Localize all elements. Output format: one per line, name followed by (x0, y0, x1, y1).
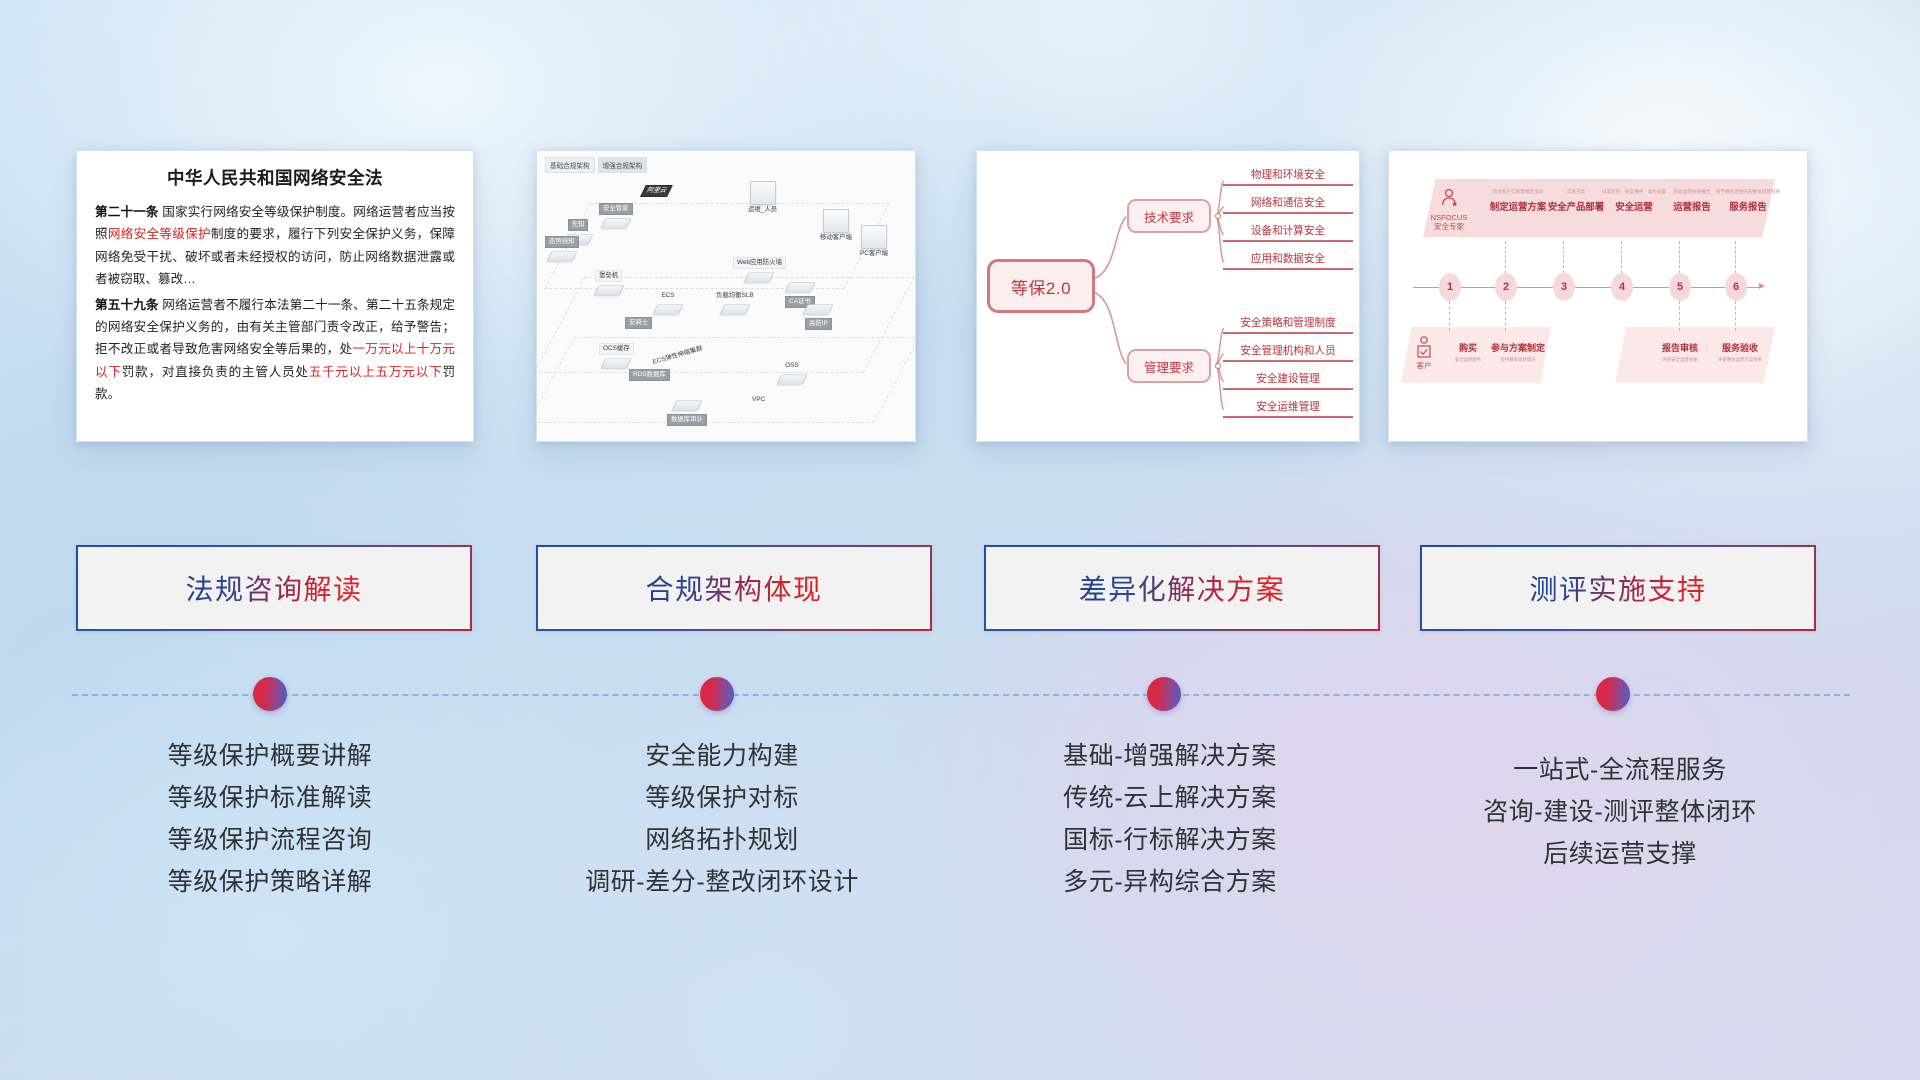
list-item: 等级保护概要讲解 (70, 735, 470, 777)
architecture-chip-oss (776, 374, 807, 385)
architecture-node-pc-client[interactable]: PC客户端 (857, 225, 891, 259)
architecture-label-ecs: ECS (658, 291, 677, 301)
architecture-label-anqishi: 安骑士 (625, 317, 652, 329)
mindmap-leaf-label: 安全运维管理 (1223, 399, 1353, 416)
architecture-node-anti-ddos[interactable]: 高防IP (805, 301, 832, 330)
architecture-node-db-audit[interactable]: 数据库审计 (667, 397, 707, 426)
nsfocus-customer-role: 客户 (1411, 361, 1437, 370)
architecture-chip-ocs (601, 358, 632, 369)
nsfocus-step-number-2[interactable]: 2 (1495, 273, 1517, 301)
architecture-diagram: 基础合规架构 增强合规架构 阿里云 安全管家 先知 态势感知 堡 (537, 151, 915, 441)
nsfocus-timeline-axis (1413, 287, 1761, 288)
nsfocus-bottom-main: 服务验收 (1707, 341, 1773, 354)
customer-icon (1413, 335, 1435, 361)
nsfocus-timeline-arrow-icon (1759, 283, 1765, 289)
nsfocus-step-number-6[interactable]: 6 (1725, 273, 1747, 301)
law-paragraph-21: 第二十一条 国家实行网络安全等级保护制度。网络运营者应当按照网络安全等级保护制度… (95, 201, 455, 291)
law-paragraph-59: 第五十九条 网络运营者不履行本法第二十一条、第二十五条规定的网络安全保护义务的，… (95, 294, 455, 406)
architecture-tab-enhanced[interactable]: 增强合规架构 (598, 157, 648, 173)
mindmap-leaf-underline (1223, 332, 1353, 334)
nsfocus-bottom-step-2[interactable]: 参与方案制定 提供基本现状情况 (1485, 341, 1551, 363)
security-expert-icon (1437, 187, 1461, 211)
list-item: 网络拓扑规划 (522, 819, 922, 861)
tab-compliance-architecture[interactable]: 合规架构体现 (536, 545, 932, 631)
architecture-chip-ecs (652, 304, 683, 315)
mindmap-leaf-mgmt-2[interactable]: 安全管理机构和人员 (1223, 343, 1353, 362)
nsfocus-bottom-main: 报告审核 (1647, 341, 1713, 354)
detail-lists-row: 等级保护概要讲解 等级保护标准解读 等级保护流程咨询 等级保护策略详解 安全能力… (0, 735, 1920, 945)
nsfocus-connector-5 (1679, 241, 1680, 273)
detail-list-regulation-consulting: 等级保护概要讲解 等级保护标准解读 等级保护流程咨询 等级保护策略详解 (70, 735, 470, 903)
list-item: 安全能力构建 (522, 735, 922, 777)
architecture-chip-ca (784, 282, 815, 293)
architecture-chip-waf (744, 272, 775, 283)
mindmap-collapse-dot-management[interactable] (1215, 363, 1221, 369)
mindmap-diagram: 等保2.0 技术要求 物理和环境安全 网络和通信安全 设备和计算安全 应用和数据… (977, 151, 1359, 441)
mindmap-leaf-mgmt-1[interactable]: 安全策略和管理制度 (1223, 315, 1353, 334)
section-tabs-row: 法规咨询解读 合规架构体现 差异化解决方案 测评实施支持 (0, 545, 1920, 631)
architecture-label-pc-client: PC客户端 (857, 249, 891, 259)
architecture-label-aliyun: 阿里云 (640, 185, 673, 197)
list-item: 咨询-建设-测评整体闭环 (1420, 791, 1820, 833)
list-item: 基础-增强解决方案 (970, 735, 1370, 777)
architecture-label-vpc: VPC (749, 395, 768, 405)
nsfocus-connector-5-down (1679, 301, 1680, 331)
architecture-chip-db-audit (671, 400, 702, 411)
tab-assessment-support[interactable]: 测评实施支持 (1420, 545, 1816, 631)
nsfocus-connector-6 (1735, 241, 1736, 273)
list-item: 调研-差分-整改闭环设计 (522, 861, 922, 903)
mindmap-leaf-underline (1223, 360, 1353, 362)
nsfocus-bottom-main: 参与方案制定 (1485, 341, 1551, 354)
timeline-row (0, 665, 1920, 725)
architecture-node-ops-staff[interactable]: 运维_人员 (745, 181, 780, 215)
mindmap-branch-management[interactable]: 管理要求 (1127, 349, 1211, 383)
nsfocus-connector-2 (1505, 241, 1506, 273)
architecture-chip-ops-staff (750, 181, 776, 205)
architecture-label-db-audit: 数据库审计 (667, 414, 707, 426)
architecture-plane-bottom (536, 337, 916, 423)
mindmap-root-node[interactable]: 等保2.0 (987, 259, 1095, 313)
architecture-node-rds[interactable]: RDS数据库 (629, 369, 670, 381)
architecture-label-slb: 负载均衡SLB (713, 291, 757, 301)
card-law-document[interactable]: 中华人民共和国网络安全法 第二十一条 国家实行网络安全等级保护制度。网络运营者应… (76, 150, 474, 442)
architecture-chip-anti-ddos (803, 304, 834, 315)
architecture-label-mobile-client: 移动客户端 (817, 233, 855, 243)
nsfocus-step-main: 服务报告 (1711, 199, 1785, 213)
nsfocus-provider-role-line1: NSFOCUS (1425, 213, 1473, 222)
mindmap-leaf-label: 设备和计算安全 (1223, 223, 1353, 240)
tab-label: 测评实施支持 (1529, 568, 1706, 608)
mindmap-leaf-tech-3[interactable]: 设备和计算安全 (1223, 223, 1353, 242)
mindmap-leaf-underline (1223, 184, 1353, 186)
architecture-node-mobile-client[interactable]: 移动客户端 (817, 209, 855, 243)
tab-label: 法规咨询解读 (185, 568, 362, 608)
law-title: 中华人民共和国网络安全法 (95, 165, 455, 190)
mindmap-leaf-underline (1223, 388, 1353, 390)
nsfocus-step-number-4[interactable]: 4 (1611, 273, 1633, 301)
architecture-label-ocs: OCS缓存 (599, 343, 634, 355)
timeline-dashed-line (72, 694, 1850, 696)
architecture-label-waf: Web应用防火墙 (733, 257, 786, 269)
nsfocus-bottom-step-3[interactable]: 报告审核 评审安全运营效果 (1647, 341, 1713, 363)
architecture-node-waf[interactable]: Web应用防火墙 (733, 257, 786, 286)
architecture-node-oss[interactable]: OSS (779, 361, 805, 388)
law-document-body: 中华人民共和国网络安全法 第二十一条 国家实行网络安全等级保护制度。网络运营者应… (77, 151, 473, 416)
tab-label: 合规架构体现 (645, 568, 822, 608)
law-text-59-b: 罚款，对直接负责的主管人员处 (122, 365, 309, 379)
nsfocus-bottom-sub: 评审安全运营效果 (1647, 357, 1713, 363)
architecture-node-slb[interactable]: 负载均衡SLB (713, 291, 757, 318)
nsfocus-provider-role: NSFOCUS 安全专家 (1425, 213, 1473, 232)
nsfocus-connector-4 (1621, 241, 1622, 273)
architecture-node-anqishi[interactable]: 安骑士 (625, 317, 652, 329)
list-item: 传统-云上解决方案 (970, 777, 1370, 819)
timeline-dot-4[interactable] (1596, 677, 1630, 711)
nsfocus-connector-2-down (1505, 301, 1506, 331)
mindmap-leaf-label: 安全管理机构和人员 (1223, 343, 1353, 360)
nsfocus-bottom-sub: 提供基本现状情况 (1485, 357, 1551, 363)
architecture-chip-mobile-client (823, 209, 849, 233)
architecture-tab-basic[interactable]: 基础合规架构 (545, 157, 595, 173)
detail-list-assessment-support: 一站式-全流程服务 咨询-建设-测评整体闭环 后续运营支撑 (1420, 749, 1820, 875)
mindmap-leaf-tech-4[interactable]: 应用和数据安全 (1223, 251, 1353, 270)
mindmap-leaf-label: 网络和通信安全 (1223, 195, 1353, 212)
mindmap-leaf-underline (1223, 416, 1353, 418)
architecture-chip-pc-client (861, 225, 887, 249)
architecture-chip-bastion (593, 285, 624, 296)
card-cloud-architecture[interactable]: 基础合规架构 增强合规架构 阿里云 安全管家 先知 态势感知 堡 (536, 150, 916, 442)
architecture-node-security-butler[interactable]: 安全管家 (599, 203, 633, 232)
architecture-label-oss: OSS (782, 361, 802, 371)
architecture-node-vpc[interactable]: VPC (749, 395, 768, 405)
detail-list-differentiated-solution: 基础-增强解决方案 传统-云上解决方案 国标-行标解决方案 多元-异构综合方案 (970, 735, 1370, 903)
nsfocus-step-sub: 给予服务范围内的整体运营效果 (1711, 189, 1785, 194)
architecture-chip-slb (719, 304, 750, 315)
card-nsfocus-service-flow[interactable]: NSFOCUS 安全专家 结合客户实际需限定出具 制定运营方案 实施方案 安全产… (1388, 150, 1808, 442)
mindmap-leaf-label: 应用和数据安全 (1223, 251, 1353, 268)
law-article-number-59: 第五十九条 (95, 298, 159, 312)
nsfocus-bottom-step-4[interactable]: 服务验收 评审整体运营方案效果 (1707, 341, 1773, 363)
nsfocus-connector-3 (1563, 241, 1564, 273)
architecture-node-aliyun[interactable]: 阿里云 (643, 185, 670, 197)
nsfocus-step-number-5[interactable]: 5 (1669, 273, 1691, 301)
mindmap-leaf-underline (1223, 268, 1353, 270)
architecture-label-bastion: 堡垒机 (595, 270, 622, 282)
list-item: 一站式-全流程服务 (1420, 749, 1820, 791)
timeline-dot-1[interactable] (253, 677, 287, 711)
tab-regulation-consulting[interactable]: 法规咨询解读 (76, 545, 472, 631)
architecture-label-security-butler: 安全管家 (599, 203, 633, 215)
detail-list-compliance-architecture: 安全能力构建 等级保护对标 网络拓扑规划 调研-差分-整改闭环设计 (522, 735, 922, 903)
nsfocus-top-step-5[interactable]: 给予服务范围内的整体运营效果 服务报告 (1711, 189, 1785, 213)
nsfocus-connector-1-down (1449, 301, 1450, 331)
architecture-node-bastion[interactable]: 堡垒机 (595, 270, 622, 299)
nsfocus-flow-diagram: NSFOCUS 安全专家 结合客户实际需限定出具 制定运营方案 实施方案 安全产… (1389, 151, 1807, 441)
mindmap-leaf-underline (1223, 240, 1353, 242)
nsfocus-bottom-sub: 评审整体运营方案效果 (1707, 357, 1773, 363)
mindmap-leaf-underline (1223, 212, 1353, 214)
timeline-dot-2[interactable] (700, 677, 734, 711)
list-item: 国标-行标解决方案 (970, 819, 1370, 861)
nsfocus-step-number-1[interactable]: 1 (1439, 273, 1461, 301)
nsfocus-connector-6-down (1735, 301, 1736, 331)
law-highlight-59-b: 五千元以上五万元以下 (309, 365, 443, 379)
architecture-label-anti-ddos: 高防IP (805, 318, 832, 330)
architecture-node-ecs[interactable]: ECS (655, 291, 681, 318)
architecture-chip-security-butler (600, 218, 631, 229)
tab-differentiated-solution[interactable]: 差异化解决方案 (984, 545, 1380, 631)
law-article-number-21: 第二十一条 (95, 205, 159, 219)
card-mindmap[interactable]: 等保2.0 技术要求 物理和环境安全 网络和通信安全 设备和计算安全 应用和数据… (976, 150, 1360, 442)
list-item: 等级保护标准解读 (70, 777, 470, 819)
architecture-label-xianzhi: 先知 (568, 219, 589, 231)
architecture-label-ops-staff: 运维_人员 (745, 205, 780, 215)
architecture-label-situation-awareness: 态势感知 (545, 236, 579, 248)
architecture-tab-group: 基础合规架构 增强合规架构 (545, 157, 647, 173)
list-item: 等级保护策略详解 (70, 861, 470, 903)
preview-cards-row: 中华人民共和国网络安全法 第二十一条 国家实行网络安全等级保护制度。网络运营者应… (0, 150, 1920, 450)
mindmap-leaf-mgmt-3[interactable]: 安全建设管理 (1223, 371, 1353, 390)
mindmap-leaf-tech-1[interactable]: 物理和环境安全 (1223, 167, 1353, 186)
list-item: 后续运营支撑 (1420, 833, 1820, 875)
nsfocus-provider-role-line2: 安全专家 (1425, 222, 1473, 231)
mindmap-leaf-mgmt-4[interactable]: 安全运维管理 (1223, 399, 1353, 418)
mindmap-collapse-dot-technical[interactable] (1215, 213, 1221, 219)
timeline-dot-3[interactable] (1147, 677, 1181, 711)
mindmap-branch-technical[interactable]: 技术要求 (1127, 199, 1211, 233)
list-item: 多元-异构综合方案 (970, 861, 1370, 903)
architecture-node-ocs[interactable]: OCS缓存 (599, 343, 634, 372)
architecture-node-situation-awareness[interactable]: 态势感知 (545, 236, 579, 265)
tab-label: 差异化解决方案 (1079, 568, 1286, 608)
list-item: 等级保护流程咨询 (70, 819, 470, 861)
architecture-chip-situation-awareness (546, 251, 577, 262)
list-item: 等级保护对标 (522, 777, 922, 819)
mindmap-leaf-label: 安全建设管理 (1223, 371, 1353, 388)
architecture-label-rds: RDS数据库 (629, 369, 670, 381)
law-highlight-21: 网络安全等级保护 (108, 227, 211, 241)
mindmap-leaf-label: 物理和环境安全 (1223, 167, 1353, 184)
mindmap-leaf-label: 安全策略和管理制度 (1223, 315, 1353, 332)
mindmap-leaf-tech-2[interactable]: 网络和通信安全 (1223, 195, 1353, 214)
nsfocus-step-number-3[interactable]: 3 (1553, 273, 1575, 301)
